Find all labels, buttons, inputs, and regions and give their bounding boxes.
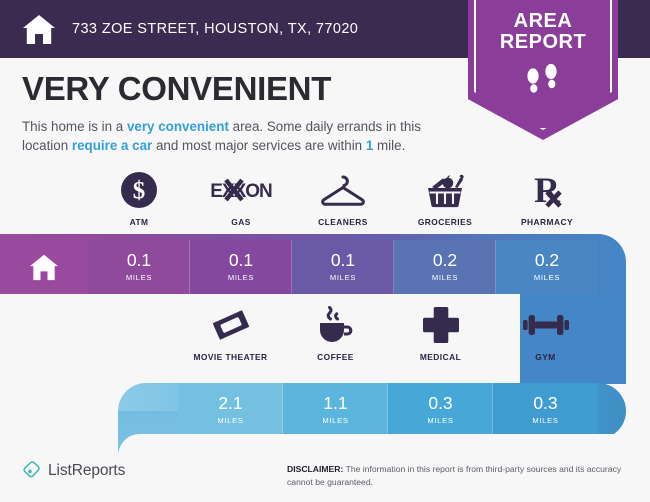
subtitle-highlight-2: require a car — [72, 138, 152, 153]
distance-cell-pharmacy: 0.2 MILES — [496, 240, 598, 294]
amenity-icon-row-1: $ ATM EXXON GAS CLEANERS — [88, 170, 598, 227]
distance-value: 0.3 — [428, 395, 452, 413]
atm-dollar-icon: $ — [120, 170, 158, 210]
amenity-cleaners: CLEANERS — [292, 170, 394, 227]
pharmacy-rx-icon: R — [527, 170, 567, 210]
page-title: VERY CONVENIENT — [22, 70, 331, 108]
distance-unit: MILES — [534, 273, 560, 282]
distance-cell-medical: 0.3 MILES — [388, 383, 493, 437]
distance-cell-gas: 0.1 MILES — [190, 240, 292, 294]
distance-unit: MILES — [427, 416, 453, 425]
amenity-label: GAS — [231, 217, 251, 227]
amenity-label: PHARMACY — [521, 217, 573, 227]
distance-value: 0.2 — [433, 252, 457, 270]
amenity-movie-theater: MOVIE THEATER — [178, 305, 283, 362]
distance-unit: MILES — [228, 273, 254, 282]
distance-cell-atm: 0.1 MILES — [88, 240, 190, 294]
subtitle-part-4: mile. — [373, 138, 405, 153]
amenity-medical: MEDICAL — [388, 305, 493, 362]
distance-value: 0.2 — [535, 252, 559, 270]
amenity-label: COFFEE — [317, 352, 354, 362]
amenity-label: MOVIE THEATER — [193, 352, 267, 362]
home-icon — [29, 253, 59, 281]
subtitle-highlight-1: very convenient — [127, 119, 229, 134]
distance-value: 0.1 — [331, 252, 355, 270]
svg-text:$: $ — [133, 178, 146, 205]
amenity-icon-row-2: MOVIE THEATER COFFEE MEDICAL — [178, 305, 598, 362]
distance-value: 0.3 — [533, 395, 557, 413]
distance-cell-coffee: 1.1 MILES — [283, 383, 388, 437]
distance-cell-gym: 0.3 MILES — [493, 383, 598, 437]
dumbbell-gym-icon — [523, 305, 569, 345]
distance-unit: MILES — [532, 416, 558, 425]
distance-cell-groceries: 0.2 MILES — [394, 240, 496, 294]
distance-row-1: 0.1 MILES 0.1 MILES 0.1 MILES 0.2 MILES … — [88, 240, 598, 294]
distance-unit: MILES — [432, 273, 458, 282]
amenity-coffee: COFFEE — [283, 305, 388, 362]
property-address: 733 ZOE STREET, HOUSTON, TX, 77020 — [72, 21, 358, 37]
amenity-pharmacy: R PHARMACY — [496, 170, 598, 227]
distance-value: 2.1 — [218, 395, 242, 413]
amenity-groceries: GROCERIES — [394, 170, 496, 227]
badge-line-2: REPORT — [500, 31, 586, 53]
distance-unit: MILES — [330, 273, 356, 282]
listreports-logo-text: ListReports — [48, 462, 125, 480]
amenity-label: GYM — [535, 352, 555, 362]
amenity-gas: EXXON GAS — [190, 170, 292, 227]
disclaimer-label: DISCLAIMER: — [287, 464, 343, 474]
amenity-label: GROCERIES — [418, 217, 472, 227]
badge-line-1: AREA — [514, 10, 573, 32]
distance-unit: MILES — [217, 416, 243, 425]
subtitle-part-3: and most major services are within — [152, 138, 366, 153]
distance-unit: MILES — [126, 273, 152, 282]
distance-value: 0.1 — [127, 252, 151, 270]
amenity-gym: GYM — [493, 305, 598, 362]
listreports-logo: ListReports — [22, 461, 125, 480]
distance-value: 1.1 — [323, 395, 347, 413]
grocery-basket-icon — [424, 170, 466, 210]
amenity-label: CLEANERS — [318, 217, 368, 227]
distance-cell-cleaners: 0.1 MILES — [292, 240, 394, 294]
movie-ticket-icon — [211, 305, 251, 345]
amenity-label: ATM — [130, 217, 149, 227]
badge-title: AREA REPORT — [500, 11, 586, 53]
coffee-cup-icon — [316, 305, 356, 345]
distance-row-2: 2.1 MILES 1.1 MILES 0.3 MILES 0.3 MILES — [178, 383, 598, 437]
subtitle-part-1: This home is in a — [22, 119, 127, 134]
medical-cross-icon — [422, 305, 460, 345]
page-subtitle: This home is in a very convenient area. … — [22, 117, 462, 156]
exxon-gas-icon: EXXON — [209, 170, 273, 210]
disclaimer: DISCLAIMER: The information in this repo… — [287, 463, 632, 489]
distance-value: 0.1 — [229, 252, 253, 270]
amenity-label: MEDICAL — [420, 352, 461, 362]
origin-home-marker — [0, 240, 88, 294]
home-icon — [22, 13, 56, 45]
amenity-atm: $ ATM — [88, 170, 190, 227]
distance-unit: MILES — [322, 416, 348, 425]
distance-cell-movie-theater: 2.1 MILES — [178, 383, 283, 437]
footprints-icon — [522, 63, 564, 97]
hanger-cleaners-icon — [320, 170, 366, 210]
listreports-house-tag-icon — [22, 461, 41, 480]
